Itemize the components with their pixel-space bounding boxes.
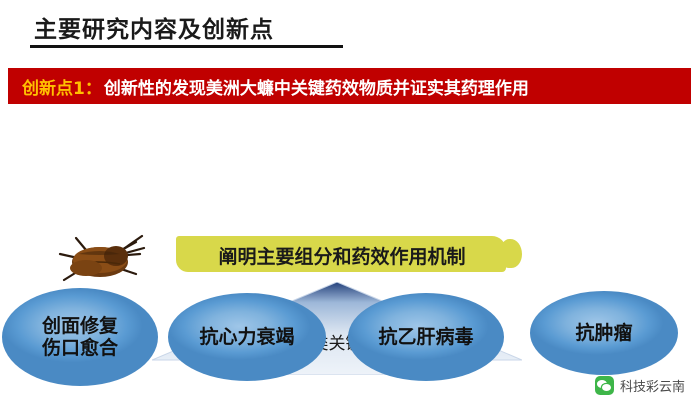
node-antitumor: 抗肿瘤 bbox=[530, 291, 678, 375]
footer-account-name: 科技彩云南 bbox=[620, 376, 685, 395]
footer-watermark: 科技彩云南 bbox=[595, 376, 685, 395]
page-title: 主要研究内容及创新点 bbox=[34, 10, 274, 44]
cockroach-icon bbox=[56, 234, 148, 296]
node-label: 抗心力衰竭 bbox=[199, 326, 294, 348]
highlight-text: 阐明主要组分和药效作用机制 bbox=[192, 242, 492, 269]
node-label: 抗肿瘤 bbox=[575, 322, 632, 344]
innovation-banner: 创新点1： 创新性的发现美洲大蠊中关键药效物质并证实其药理作用 bbox=[8, 68, 691, 104]
node-label: 抗乙肝病毒 bbox=[378, 326, 473, 348]
node-hepatitis-b: 抗乙肝病毒 bbox=[348, 293, 504, 381]
node-label: 创面修复 伤口愈合 bbox=[42, 315, 118, 360]
node-wound-repair: 创面修复 伤口愈合 bbox=[2, 288, 158, 386]
node-heart-failure: 抗心力衰竭 bbox=[168, 293, 326, 381]
title-underline bbox=[30, 45, 343, 48]
banner-label: 创新点1： bbox=[22, 74, 102, 99]
wechat-icon bbox=[595, 376, 614, 395]
slide-canvas: 主要研究内容及创新点 创新点1： 创新性的发现美洲大蠊中关键药效物质并证实其药理… bbox=[0, 0, 699, 405]
banner-text: 创新性的发现美洲大蠊中关键药效物质并证实其药理作用 bbox=[104, 74, 529, 99]
